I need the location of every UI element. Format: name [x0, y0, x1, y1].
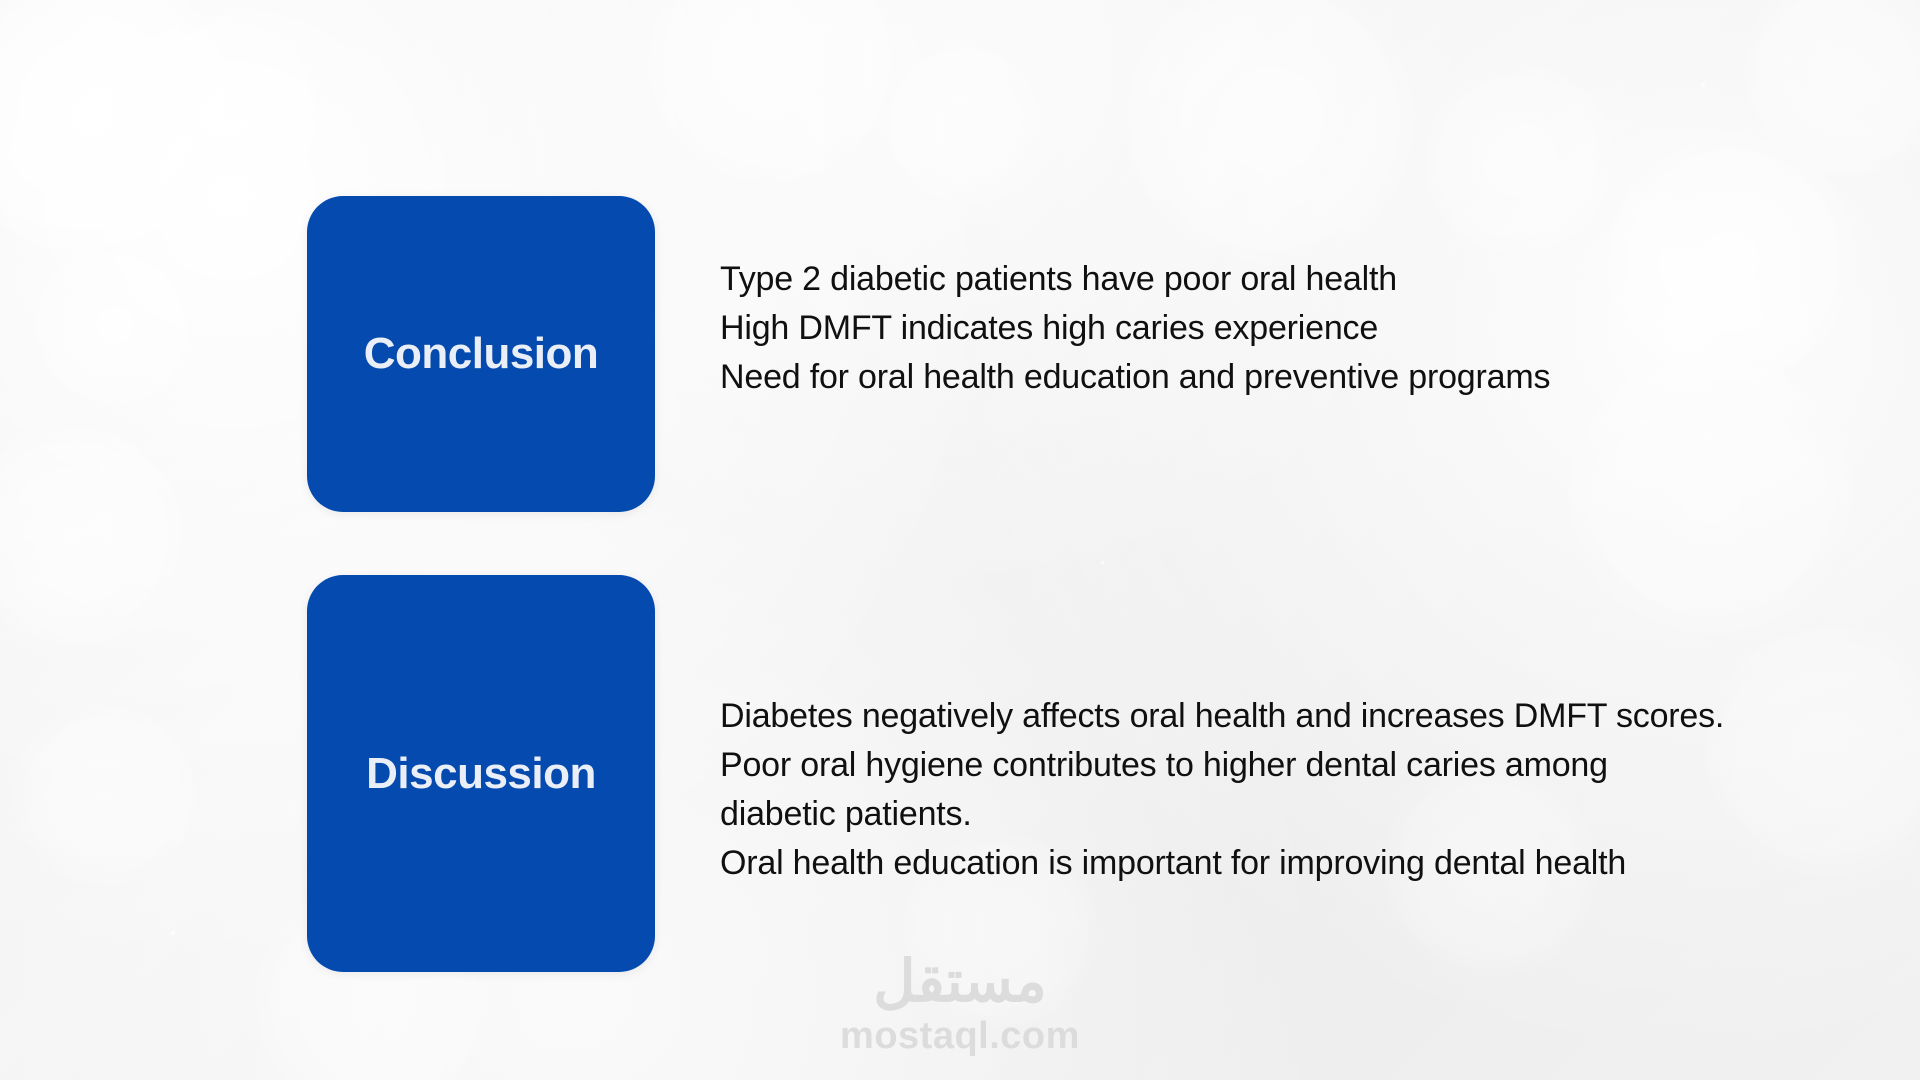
bokeh-circle — [880, 40, 1050, 210]
bokeh-circle — [640, 0, 900, 190]
conclusion-panel: Conclusion — [307, 196, 655, 512]
sparkle-dot — [170, 930, 176, 936]
bokeh-circle — [1700, 620, 1920, 880]
discussion-line: Poor oral hygiene contributes to higher … — [720, 741, 1724, 790]
bokeh-circle — [1420, 60, 1620, 260]
bokeh-circle — [30, 240, 200, 410]
conclusion-line: Need for oral health education and preve… — [720, 353, 1550, 402]
conclusion-line: Type 2 diabetic patients have poor oral … — [720, 255, 1550, 304]
discussion-line: diabetic patients. — [720, 790, 1724, 839]
presentation-slide: Conclusion Type 2 diabetic patients have… — [0, 0, 1920, 1080]
discussion-line: Oral health education is important for i… — [720, 839, 1724, 888]
bokeh-circle — [0, 420, 190, 650]
conclusion-panel-label: Conclusion — [364, 329, 599, 379]
discussion-line: Diabetes negatively affects oral health … — [720, 692, 1724, 741]
watermark-domain-text: mostaql.com — [840, 1015, 1080, 1058]
sparkle-dot — [1100, 560, 1105, 565]
bokeh-circle — [120, 10, 330, 220]
bokeh-circle — [1600, 130, 1860, 390]
sparkle-dot — [1692, 290, 1697, 295]
bokeh-circle — [1740, 0, 1920, 180]
conclusion-line: High DMFT indicates high caries experien… — [720, 304, 1550, 353]
sparkle-dot — [66, 128, 73, 135]
sparkle-dot — [1640, 420, 1646, 426]
sparkle-dot — [1700, 82, 1706, 88]
sparkle-dot — [100, 465, 106, 471]
mostaql-watermark: مستقل mostaql.com — [0, 952, 1920, 1058]
discussion-panel: Discussion — [307, 575, 655, 972]
conclusion-text-block: Type 2 diabetic patients have poor oral … — [720, 255, 1550, 402]
bokeh-circle — [1120, 0, 1420, 270]
bokeh-circle — [1560, 340, 1860, 640]
watermark-arabic-logo: مستقل — [873, 952, 1047, 1013]
bokeh-circle — [10, 700, 200, 890]
discussion-text-block: Diabetes negatively affects oral health … — [720, 692, 1724, 888]
bokeh-circle — [0, 0, 240, 260]
sparkle-dot — [822, 26, 827, 31]
discussion-panel-label: Discussion — [366, 749, 596, 799]
